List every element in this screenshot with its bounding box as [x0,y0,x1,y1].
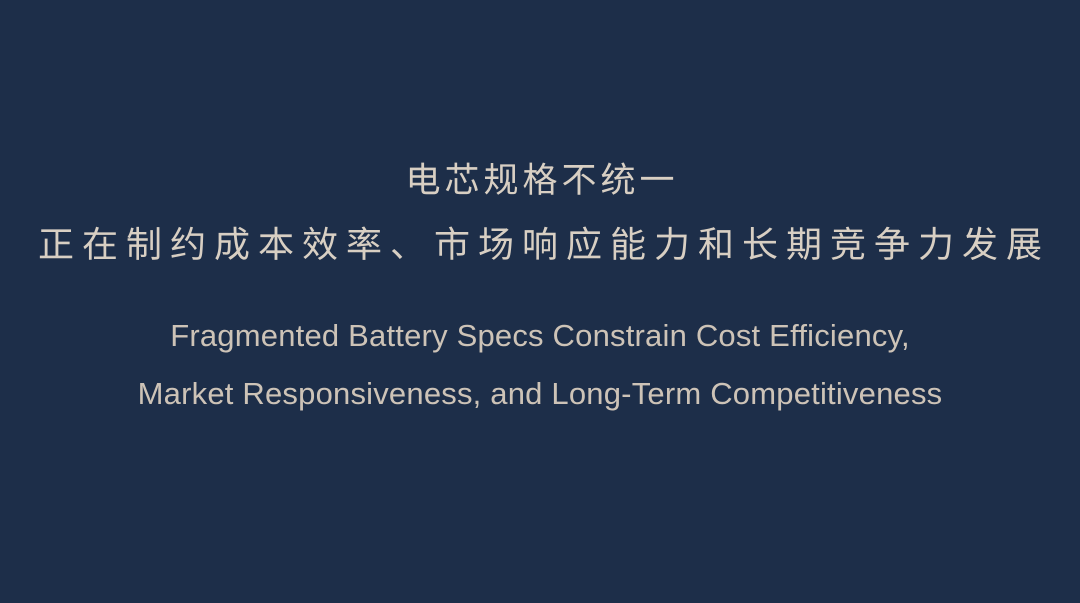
english-subtitle-line-2: Market Responsiveness, and Long-Term Com… [138,378,943,409]
chinese-title-block: 电芯规格不统一 正在制约成本效率、市场响应能力和长期竞争力发展 [0,163,1080,263]
chinese-headline-line-2: 正在制约成本效率、市场响应能力和长期竞争力发展 [30,227,1050,263]
chinese-headline-line-1: 电芯规格不统一 [401,163,678,198]
presentation-slide: 电芯规格不统一 正在制约成本效率、市场响应能力和长期竞争力发展 Fragment… [0,0,1080,603]
english-subtitle-line-1: Fragmented Battery Specs Constrain Cost … [170,320,910,351]
english-subtitle-block: Fragmented Battery Specs Constrain Cost … [0,320,1080,409]
